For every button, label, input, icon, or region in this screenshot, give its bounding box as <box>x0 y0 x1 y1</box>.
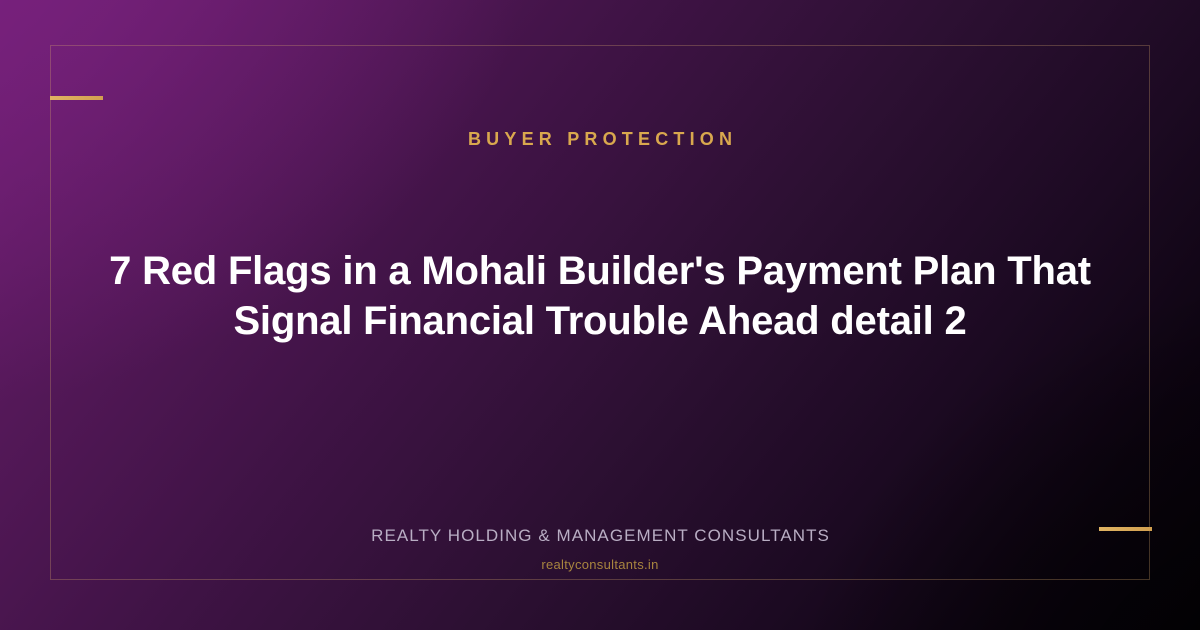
page-title: 7 Red Flags in a Mohali Builder's Paymen… <box>100 246 1100 346</box>
eyebrow-category-label: BUYER PROTECTION <box>50 129 1150 150</box>
card-content: BUYER PROTECTION 7 Red Flags in a Mohali… <box>50 45 1150 580</box>
brand-name: REALTY HOLDING & MANAGEMENT CONSULTANTS <box>50 525 1150 547</box>
social-share-card: BUYER PROTECTION 7 Red Flags in a Mohali… <box>0 0 1200 630</box>
website-url: realtyconsultants.in <box>50 556 1150 573</box>
card-footer: REALTY HOLDING & MANAGEMENT CONSULTANTS … <box>50 525 1150 573</box>
